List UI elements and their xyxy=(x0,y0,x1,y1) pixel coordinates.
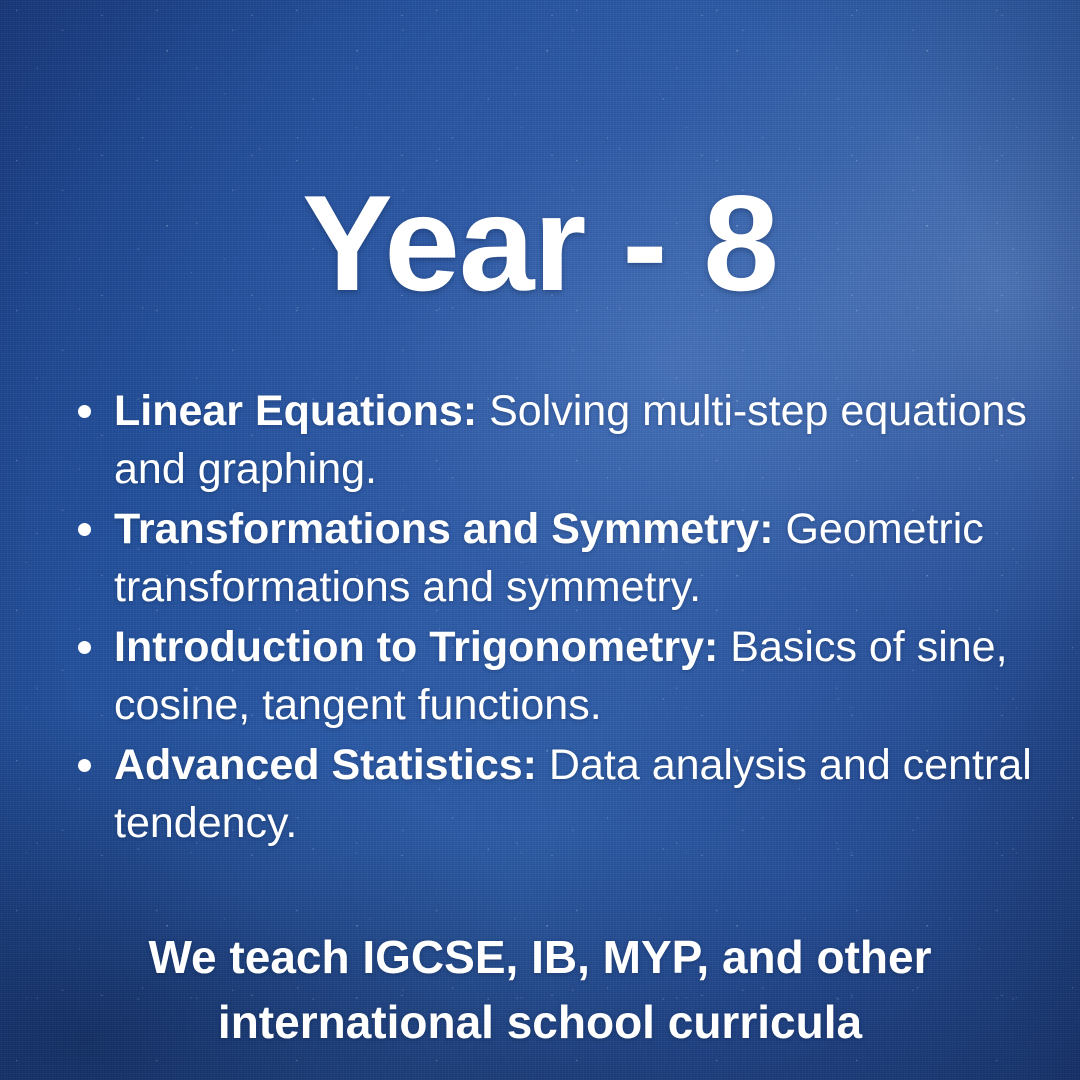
topic-label: Introduction to Trigonometry: xyxy=(114,623,718,671)
page-title: Year - 8 xyxy=(0,175,1080,311)
list-item: Introduction to Trigonometry: Basics of … xyxy=(66,618,1066,734)
list-item: Advanced Statistics: Data analysis and c… xyxy=(66,736,1066,852)
bullet-dot-icon xyxy=(78,759,91,772)
bullet-dot-icon xyxy=(78,641,91,654)
slide-content: Year - 8 Linear Equations: Solving multi… xyxy=(0,0,1080,1080)
topic-label: Linear Equations: xyxy=(114,387,477,435)
list-item: Transformations and Symmetry: Geometric … xyxy=(66,500,1066,616)
topic-list: Linear Equations: Solving multi-step equ… xyxy=(66,382,1066,854)
footer-tagline-line-2: international school curricula xyxy=(58,990,1022,1055)
bullet-dot-icon xyxy=(78,405,91,418)
topic-label: Transformations and Symmetry: xyxy=(114,505,774,553)
slide-canvas: Year - 8 Linear Equations: Solving multi… xyxy=(0,0,1080,1080)
bullet-dot-icon xyxy=(78,523,91,536)
footer-tagline-line-1: We teach IGCSE, IB, MYP, and other xyxy=(58,925,1022,990)
list-item: Linear Equations: Solving multi-step equ… xyxy=(66,382,1066,498)
footer-tagline: We teach IGCSE, IB, MYP, and other inter… xyxy=(0,925,1080,1055)
topic-label: Advanced Statistics: xyxy=(114,741,537,789)
